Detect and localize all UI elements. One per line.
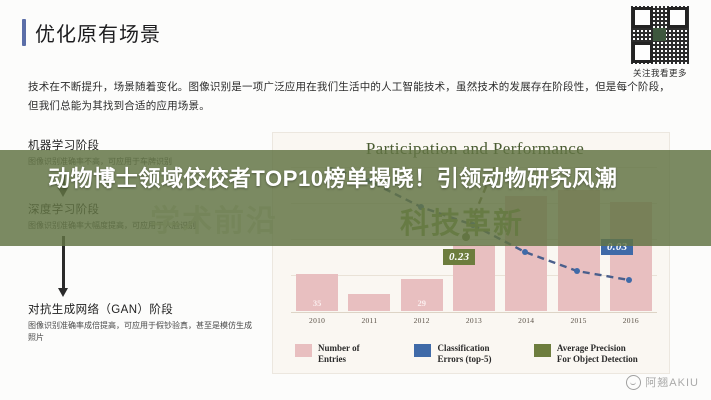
legend-swatch-icon [534,344,551,357]
body-paragraph: 技术在不断提升，场景随着变化。图像识别是一项广泛应用在我们生活中的人工智能技术，… [28,78,678,116]
x-tick: 2014 [505,316,547,325]
data-point [626,277,632,283]
x-tick: 2015 [558,316,600,325]
x-tick: 2016 [610,316,652,325]
chart-legend: Number of Entries Classification Errors … [295,343,657,365]
heading-text: 优化原有场景 [35,18,161,47]
legend-label: Classification Errors (top-5) [437,343,491,365]
slide-canvas: 优化原有场景 关注我看更多 技术在不断提升，场景随着变化。图像识别是一项广泛应用… [0,0,711,400]
legend-swatch-icon [414,344,431,357]
legend-label: Number of Entries [318,343,360,365]
flow-stage-gan: 对抗生成网络（GAN）阶段 图像识别准确率成倍提高，可应用于假钞验真，甚至是模仿… [28,302,258,344]
x-tick: 2011 [348,316,390,325]
legend-label: Average Precision For Object Detection [557,343,638,365]
stage-desc: 图像识别准确率成倍提高，可应用于假钞验真，甚至是模仿生成照片 [28,320,258,344]
qr-code-block[interactable]: 关注我看更多 [623,6,697,79]
legend-item-average-precision: Average Precision For Object Detection [534,343,653,365]
legend-item-number-of-entries: Number of Entries [295,343,414,365]
corner-watermark: 阿翘AKIU [626,374,699,390]
account-avatar-icon [626,375,641,390]
x-tick: 2013 [453,316,495,325]
data-point [522,249,528,255]
data-point [574,268,580,274]
data-label-average-precision: 0.23 [443,249,475,265]
chart-x-tick-labels: 2010 2011 2012 2013 2014 2015 2016 [291,313,657,327]
x-tick: 2010 [296,316,338,325]
qr-code-icon[interactable] [631,6,689,64]
title-accent-bar [22,19,26,46]
x-tick: 2012 [401,316,443,325]
page-title: 优化原有场景 [22,18,161,47]
overlay-headline: 动物博士领域佼佼者TOP10榜单揭晓！引领动物研究风潮 [0,162,711,195]
corner-watermark-text: 阿翘AKIU [645,374,699,390]
stage-title: 对抗生成网络（GAN）阶段 [28,302,258,318]
legend-swatch-icon [295,344,312,357]
legend-item-classification-errors: Classification Errors (top-5) [414,343,533,365]
screenshot-root: 优化原有场景 关注我看更多 技术在不断提升，场景随着变化。图像识别是一项广泛应用… [0,0,711,400]
